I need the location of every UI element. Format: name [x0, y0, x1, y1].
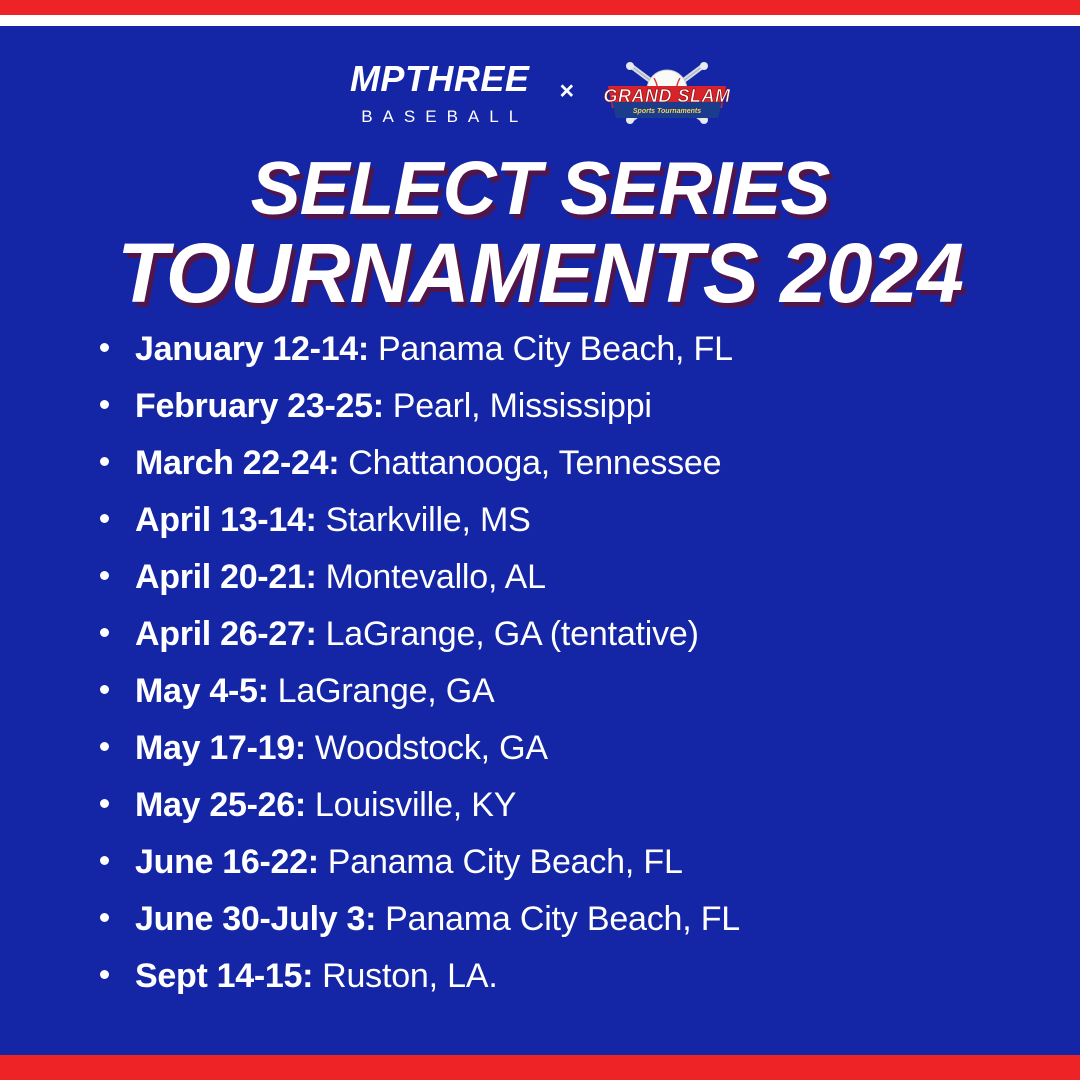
brand-subtitle: BASEBALL [351, 108, 528, 125]
top-red-stripe [0, 0, 1080, 15]
grand-slam-logo: GRAND SLAM Sports Tournaments [604, 60, 730, 126]
bullet-icon [100, 400, 109, 409]
schedule-list-item: May 4-5:LaGrange, GA [100, 672, 1080, 729]
bullet-icon [100, 799, 109, 808]
tournament-location: LaGrange, GA [278, 672, 495, 711]
bullet-icon [100, 685, 109, 694]
svg-text:GRAND SLAM: GRAND SLAM [604, 86, 730, 106]
bullet-icon [100, 742, 109, 751]
tournament-location: Starkville, MS [326, 501, 531, 540]
bullet-icon [100, 514, 109, 523]
tournament-location: Louisville, KY [315, 786, 516, 825]
bullet-icon [100, 457, 109, 466]
tournament-date: April 20-21: [135, 558, 317, 597]
tournament-date: June 30-July 3: [135, 900, 376, 939]
tournament-location: Panama City Beach, FL [328, 843, 683, 882]
tournament-location: Woodstock, GA [315, 729, 548, 768]
collaboration-cross-icon: × [559, 79, 574, 104]
brand-header: MPTHREE BASEBALL × [0, 52, 1080, 134]
svg-text:Sports Tournaments: Sports Tournaments [633, 108, 701, 115]
schedule-list-item: June 16-22:Panama City Beach, FL [100, 843, 1080, 900]
title-line-2: TOURNAMENTS 2024 [0, 232, 1080, 314]
tournament-date: April 13-14: [135, 501, 317, 540]
schedule-list-item: April 20-21:Montevallo, AL [100, 558, 1080, 615]
tournament-location: Chattanooga, Tennessee [348, 444, 721, 483]
schedule-list-item: Sept 14-15:Ruston, LA. [100, 957, 1080, 1014]
bottom-red-stripe [0, 1055, 1080, 1080]
tournament-schedule-list: January 12-14:Panama City Beach, FLFebru… [0, 330, 1080, 1014]
tournament-schedule-poster: MPTHREE BASEBALL × [0, 0, 1080, 1080]
tournament-date: May 25-26: [135, 786, 306, 825]
schedule-list-item: June 30-July 3:Panama City Beach, FL [100, 900, 1080, 957]
tournament-location: Montevallo, AL [326, 558, 546, 597]
schedule-list-item: February 23-25:Pearl, Mississippi [100, 387, 1080, 444]
tournament-location: Pearl, Mississippi [393, 387, 652, 426]
bullet-icon [100, 628, 109, 637]
tournament-date: March 22-24: [135, 444, 339, 483]
page-title: SELECT SERIES TOURNAMENTS 2024 [0, 152, 1080, 314]
tournament-date: May 4-5: [135, 672, 269, 711]
bullet-icon [100, 913, 109, 922]
tournament-date: January 12-14: [135, 330, 369, 369]
top-white-stripe [0, 15, 1080, 26]
schedule-list-item: April 13-14:Starkville, MS [100, 501, 1080, 558]
schedule-list-item: May 25-26:Louisville, KY [100, 786, 1080, 843]
tournament-date: April 26-27: [135, 615, 317, 654]
tournament-location: Panama City Beach, FL [378, 330, 733, 369]
schedule-list-item: May 17-19:Woodstock, GA [100, 729, 1080, 786]
schedule-list-item: March 22-24:Chattanooga, Tennessee [100, 444, 1080, 501]
bullet-icon [100, 970, 109, 979]
brand-name: MPTHREE [350, 61, 530, 97]
mpthree-baseball-logo: MPTHREE BASEBALL [350, 61, 530, 125]
tournament-location: LaGrange, GA (tentative) [326, 615, 699, 654]
title-line-1: SELECT SERIES [0, 152, 1080, 226]
bullet-icon [100, 856, 109, 865]
tournament-location: Panama City Beach, FL [385, 900, 740, 939]
tournament-date: June 16-22: [135, 843, 319, 882]
tournament-location: Ruston, LA. [322, 957, 497, 996]
tournament-date: May 17-19: [135, 729, 306, 768]
tournament-date: Sept 14-15: [135, 957, 313, 996]
tournament-date: February 23-25: [135, 387, 384, 426]
schedule-list-item: January 12-14:Panama City Beach, FL [100, 330, 1080, 387]
schedule-list-item: April 26-27:LaGrange, GA (tentative) [100, 615, 1080, 672]
bullet-icon [100, 571, 109, 580]
bullet-icon [100, 343, 109, 352]
